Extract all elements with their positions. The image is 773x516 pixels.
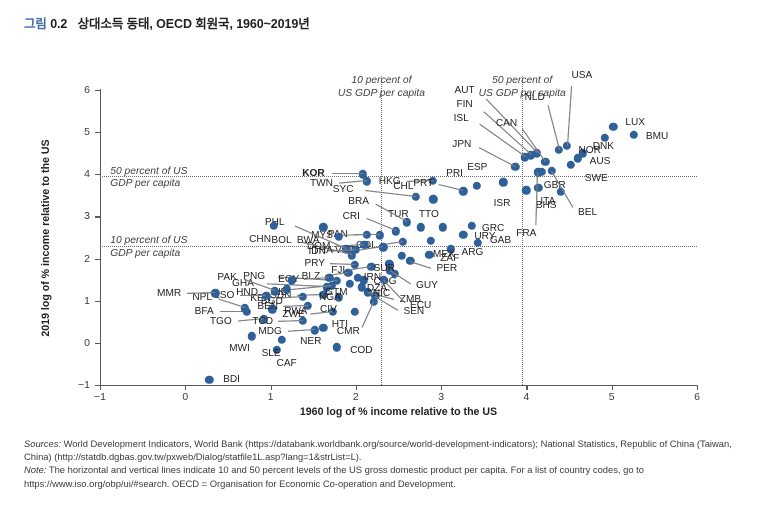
data-point bbox=[398, 251, 406, 259]
y-tick bbox=[95, 385, 100, 386]
x-tick-label: 0 bbox=[182, 391, 188, 403]
point-label-cod: COD bbox=[350, 346, 372, 357]
point-label-esp: ESP bbox=[467, 163, 487, 174]
y-tick-label: 2 bbox=[68, 253, 90, 265]
point-label-lux: LUX bbox=[625, 118, 645, 129]
point-label-tgo: TGO bbox=[210, 317, 232, 328]
point-label-cri: CRI bbox=[343, 212, 360, 223]
data-point bbox=[351, 308, 359, 316]
y-axis-title: 2019 log of % income relative to the US bbox=[40, 88, 52, 388]
point-label-bel: BEL bbox=[578, 208, 597, 219]
data-point bbox=[459, 230, 467, 238]
point-label-fra: FRA bbox=[516, 229, 536, 240]
point-label-hnd: HND bbox=[236, 288, 258, 299]
point-label-syc: SYC bbox=[333, 185, 354, 196]
point-label-hkg: HKG bbox=[379, 177, 401, 188]
point-label-kor: KOR bbox=[302, 169, 324, 180]
x-tick bbox=[185, 385, 186, 390]
point-label-dza: DZA bbox=[367, 284, 387, 295]
data-point bbox=[439, 223, 447, 231]
x-tick-label: 3 bbox=[438, 391, 444, 403]
x-tick bbox=[526, 385, 527, 390]
point-label-bmu: BMU bbox=[646, 132, 668, 143]
y-tick-label: 4 bbox=[68, 168, 90, 180]
point-label-sle: SLE bbox=[262, 349, 281, 360]
data-point bbox=[468, 221, 476, 229]
point-label-fin: FIN bbox=[456, 100, 472, 111]
point-label-ecu: ECU bbox=[410, 301, 431, 312]
point-label-civ: CIV bbox=[320, 305, 337, 316]
data-point bbox=[473, 182, 481, 190]
data-point bbox=[609, 123, 617, 131]
scatter-chart: −10123456 −10123456 10 percent of US GDP… bbox=[0, 0, 773, 430]
x-axis-line bbox=[100, 385, 698, 386]
data-point bbox=[429, 195, 437, 203]
point-label-jpn: JPN bbox=[452, 140, 471, 151]
note-label: Note: bbox=[24, 464, 46, 475]
point-label-pry: PRY bbox=[304, 259, 325, 270]
leader-line bbox=[536, 172, 539, 225]
data-point bbox=[363, 177, 371, 185]
data-point bbox=[459, 187, 467, 195]
sources-label: Sources: bbox=[24, 438, 61, 449]
note-line: Note: The horizontal and vertical lines … bbox=[24, 463, 753, 489]
point-label-bol: BOL bbox=[271, 236, 291, 247]
x-tick bbox=[356, 385, 357, 390]
point-label-isr: ISR bbox=[494, 199, 511, 210]
leader-line bbox=[361, 302, 373, 328]
x-axis-title: 1960 log of % income relative to the US bbox=[100, 406, 697, 418]
point-label-bhs: BHS bbox=[536, 201, 557, 212]
data-point bbox=[311, 326, 319, 334]
point-label-bfa: BFA bbox=[195, 307, 214, 318]
data-point bbox=[499, 178, 507, 186]
x-tick-label: 6 bbox=[694, 391, 700, 403]
point-label-per: PER bbox=[436, 264, 457, 275]
point-label-tcd: TCD bbox=[252, 317, 273, 328]
point-label-swe: SWE bbox=[585, 174, 608, 185]
point-label-zwe: ZWE bbox=[282, 310, 304, 321]
plot-area: BDIMWICAFSLEMDGCODNERTGOBFANPLRWATCDBENZ… bbox=[100, 90, 697, 385]
point-label-sur: SUR bbox=[374, 264, 395, 275]
leader-line bbox=[547, 105, 559, 150]
leader-line bbox=[240, 295, 266, 296]
data-point bbox=[416, 223, 424, 231]
point-label-fji: FJI bbox=[331, 266, 345, 277]
y-tick-label: 6 bbox=[68, 84, 90, 96]
point-label-mwi: MWI bbox=[229, 344, 250, 355]
data-point bbox=[319, 324, 327, 332]
x-tick bbox=[697, 385, 698, 390]
point-label-arg: ARG bbox=[462, 248, 484, 259]
point-label-pak: PAK bbox=[217, 273, 236, 284]
point-label-twn: TWN bbox=[310, 179, 333, 190]
x-tick-label: 5 bbox=[609, 391, 615, 403]
data-point bbox=[427, 237, 435, 245]
point-label-nld: NLD bbox=[525, 93, 545, 104]
point-label-can: CAN bbox=[496, 119, 517, 130]
point-label-tto: TTO bbox=[419, 210, 439, 221]
x-tick bbox=[612, 385, 613, 390]
point-label-chn: CHN bbox=[249, 235, 271, 246]
y-tick-label: 5 bbox=[68, 126, 90, 138]
point-label-guy: GUY bbox=[416, 281, 438, 292]
point-label-irn: IRN bbox=[364, 273, 381, 284]
sources-line: Sources: World Development Indicators, W… bbox=[24, 437, 753, 463]
point-label-cmr: CMR bbox=[337, 327, 360, 338]
y-tick-label: −1 bbox=[68, 379, 90, 391]
point-label-nor: NOR bbox=[578, 146, 600, 157]
data-point bbox=[333, 343, 341, 351]
x-tick bbox=[100, 385, 101, 390]
point-label-mex: MEX bbox=[433, 250, 455, 261]
sources-text: World Development Indicators, World Bank… bbox=[24, 438, 732, 462]
point-label-pri: PRI bbox=[446, 169, 463, 180]
data-point bbox=[376, 231, 384, 239]
point-label-mdg: MDG bbox=[258, 327, 282, 338]
point-label-prt: PRT bbox=[413, 179, 433, 190]
data-point bbox=[522, 186, 530, 194]
figure-notes: Sources: World Development Indicators, W… bbox=[24, 437, 753, 490]
point-label-caf: CAF bbox=[277, 359, 297, 370]
data-point bbox=[333, 277, 341, 285]
data-point bbox=[205, 376, 213, 384]
point-label-ner: NER bbox=[300, 337, 321, 348]
point-label-gtm: GTM bbox=[325, 288, 347, 299]
data-point bbox=[248, 332, 256, 340]
note-text: The horizontal and vertical lines indica… bbox=[24, 464, 644, 488]
point-label-bra: BRA bbox=[348, 197, 369, 208]
x-tick-label: 4 bbox=[524, 391, 530, 403]
leader-line bbox=[410, 261, 432, 269]
y-tick-label: 0 bbox=[68, 337, 90, 349]
point-label-mmr: MMR bbox=[157, 289, 181, 300]
x-tick bbox=[271, 385, 272, 390]
y-tick-label: 3 bbox=[68, 210, 90, 222]
data-point bbox=[567, 161, 575, 169]
data-point bbox=[630, 130, 638, 138]
point-label-bdi: BDI bbox=[223, 375, 240, 386]
point-label-aus: AUS bbox=[590, 157, 611, 168]
point-label-npl: NPL bbox=[192, 293, 212, 304]
x-tick-label: 1 bbox=[268, 391, 274, 403]
y-tick-label: 1 bbox=[68, 295, 90, 307]
point-label-grc: GRC bbox=[482, 224, 504, 235]
leader-line bbox=[567, 85, 572, 145]
point-label-tha: THA bbox=[313, 246, 333, 257]
point-label-usa: USA bbox=[572, 71, 593, 82]
point-label-aut: AUT bbox=[454, 86, 474, 97]
x-tick bbox=[441, 385, 442, 390]
point-label-isl: ISL bbox=[454, 114, 469, 125]
x-tick-label: 2 bbox=[353, 391, 359, 403]
x-tick-label: −1 bbox=[94, 391, 106, 403]
